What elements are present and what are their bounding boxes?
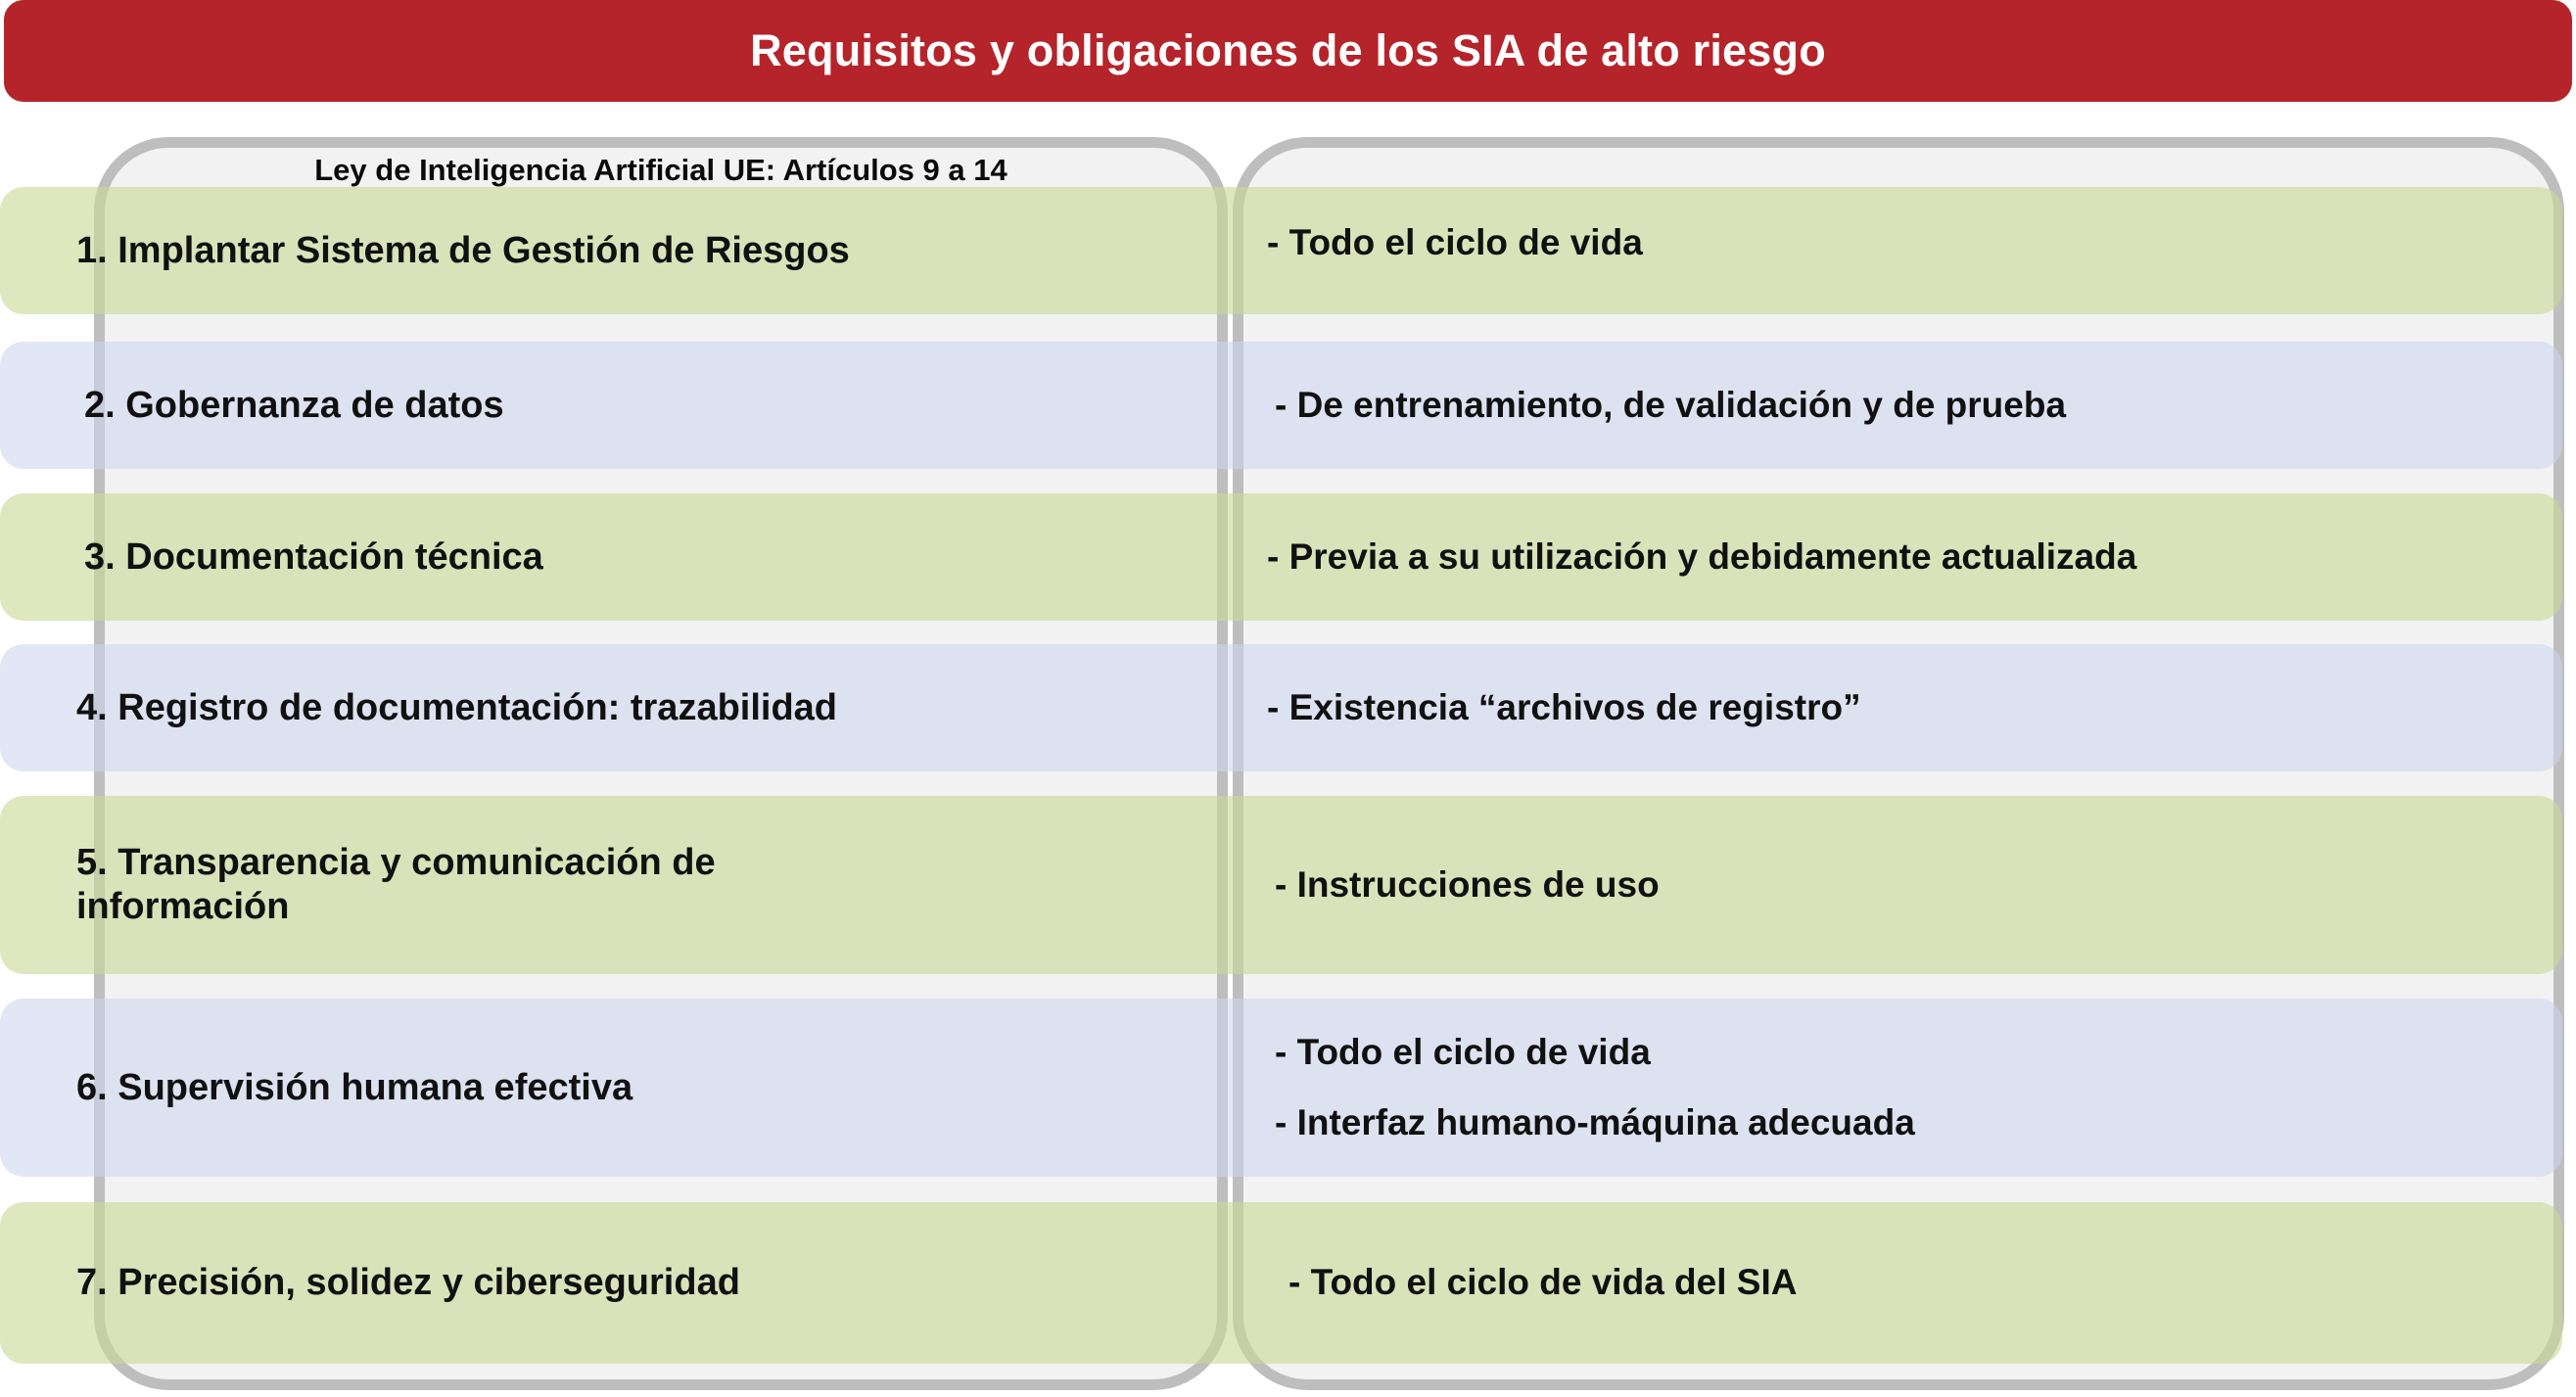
requirement-label-4: 4. Registro de documentación: trazabilid… (76, 686, 1202, 730)
table-row: 1. Implantar Sistema de Gestión de Riesg… (76, 187, 1202, 314)
table-row-detail: - Todo el ciclo de vida (1267, 179, 2559, 306)
requirement-label-7: 7. Precisión, solidez y ciberseguridad (76, 1261, 1202, 1305)
table-row-detail: - De entrenamiento, de validación y de p… (1267, 342, 2559, 469)
requirement-label-6: 6. Supervisión humana efectiva (76, 1066, 1202, 1110)
table-row-detail: - Todo el ciclo de vida del SIA (1267, 1202, 2559, 1364)
detail-line-6-2: - Interfaz humano-máquina adecuada (1267, 1101, 2559, 1144)
requirement-label-2: 2. Gobernanza de datos (76, 384, 1202, 428)
detail-line-5-1: - Instrucciones de uso (1267, 863, 2559, 907)
rows-layer: 1. Implantar Sistema de Gestión de Riesg… (0, 0, 2576, 1397)
requirement-label-3: 3. Documentación técnica (76, 536, 1202, 580)
table-row-detail: - Todo el ciclo de vida - Interfaz human… (1267, 999, 2559, 1177)
detail-line-1-1: - Todo el ciclo de vida (1267, 221, 2559, 264)
table-row: 6. Supervisión humana efectiva (76, 999, 1202, 1177)
table-row: 4. Registro de documentación: trazabilid… (76, 644, 1202, 771)
detail-line-7-1: - Todo el ciclo de vida del SIA (1267, 1261, 2559, 1304)
table-row-detail: - Previa a su utilización y debidamente … (1267, 493, 2559, 621)
slide-root: Requisitos y obligaciones de los SIA de … (0, 0, 2576, 1397)
table-row-detail: - Instrucciones de uso (1267, 796, 2559, 974)
table-row: 7. Precisión, solidez y ciberseguridad (76, 1202, 1202, 1364)
table-row-detail: - Existencia “archivos de registro” (1267, 644, 2559, 771)
detail-line-3-1: - Previa a su utilización y debidamente … (1267, 536, 2559, 579)
table-row: 5. Transparencia y comunicación de infor… (76, 796, 1202, 974)
detail-line-2-1: - De entrenamiento, de validación y de p… (1267, 384, 2559, 427)
table-row: 3. Documentación técnica (76, 493, 1202, 621)
table-row: 2. Gobernanza de datos (76, 342, 1202, 469)
requirement-label-5: 5. Transparencia y comunicación de infor… (76, 841, 820, 929)
detail-line-4-1: - Existencia “archivos de registro” (1267, 686, 2559, 729)
requirement-label-1: 1. Implantar Sistema de Gestión de Riesg… (76, 229, 1202, 273)
detail-line-6-1: - Todo el ciclo de vida (1267, 1031, 2559, 1074)
